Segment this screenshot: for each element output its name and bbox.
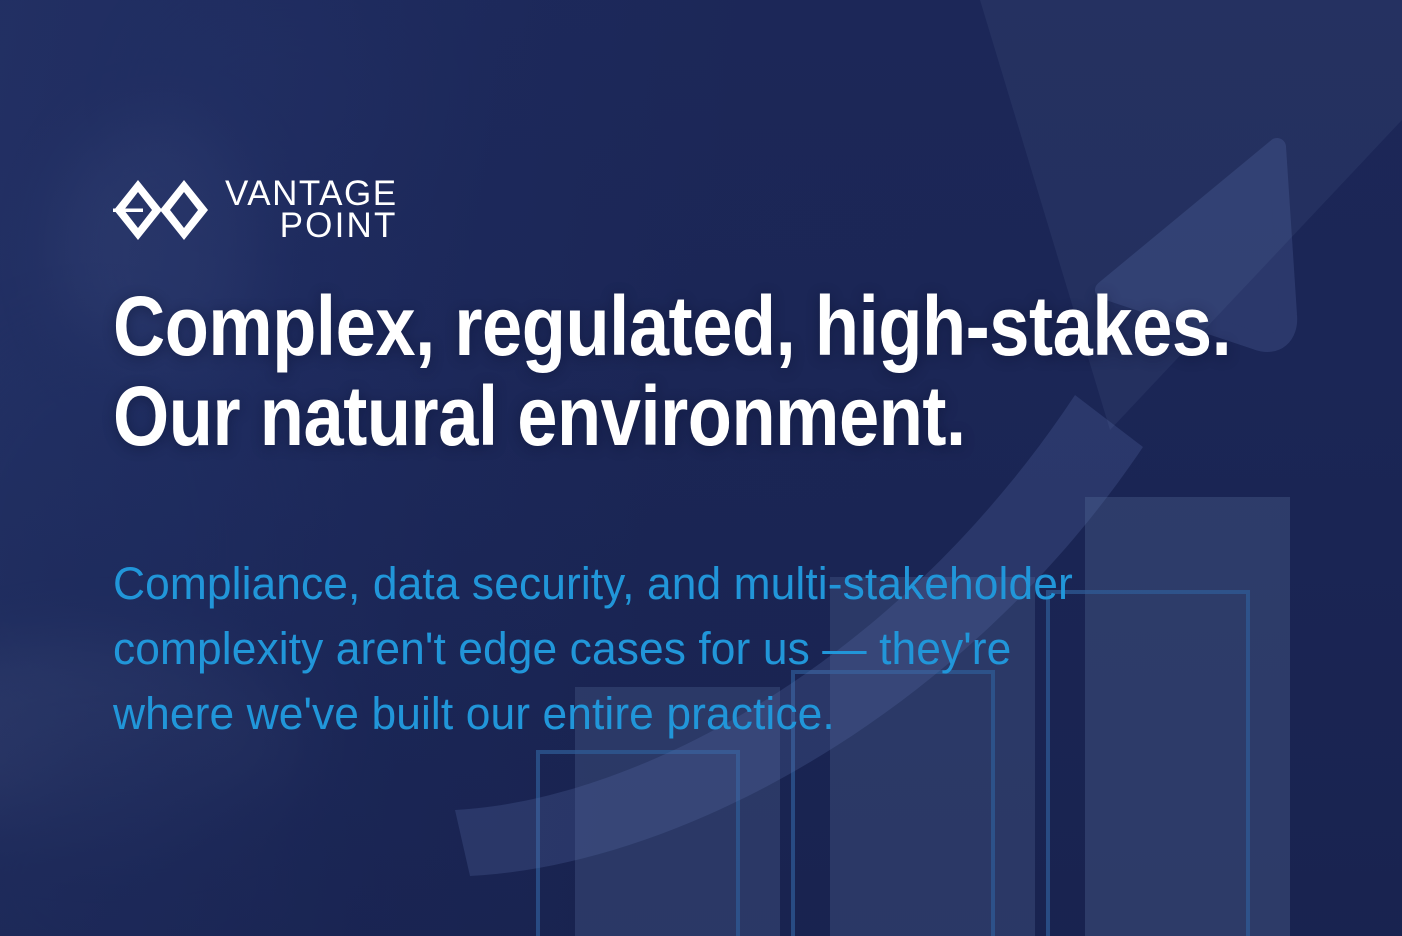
body-line-2: complexity aren't edge cases for us — th… <box>113 617 1310 682</box>
body-line-1: Compliance, data security, and multi-sta… <box>113 552 1310 617</box>
brand-wordmark: VANTAGE POINT <box>225 178 398 242</box>
infinity-diamond-logo-mark <box>113 179 209 241</box>
hero-content: VANTAGE POINT Complex, regulated, high-s… <box>113 0 1293 936</box>
body-line-3: where we've built our entire practice. <box>113 682 1310 747</box>
headline-line-2: Our natural environment. <box>113 372 1093 462</box>
brand-logo[interactable]: VANTAGE POINT <box>113 178 398 242</box>
headline-line-1: Complex, regulated, high-stakes. <box>113 282 1093 372</box>
brand-name-bottom: POINT <box>280 210 398 242</box>
headline: Complex, regulated, high-stakes. Our nat… <box>113 282 1093 462</box>
hero-banner: VANTAGE POINT Complex, regulated, high-s… <box>0 0 1402 936</box>
body-copy: Compliance, data security, and multi-sta… <box>113 552 1310 746</box>
